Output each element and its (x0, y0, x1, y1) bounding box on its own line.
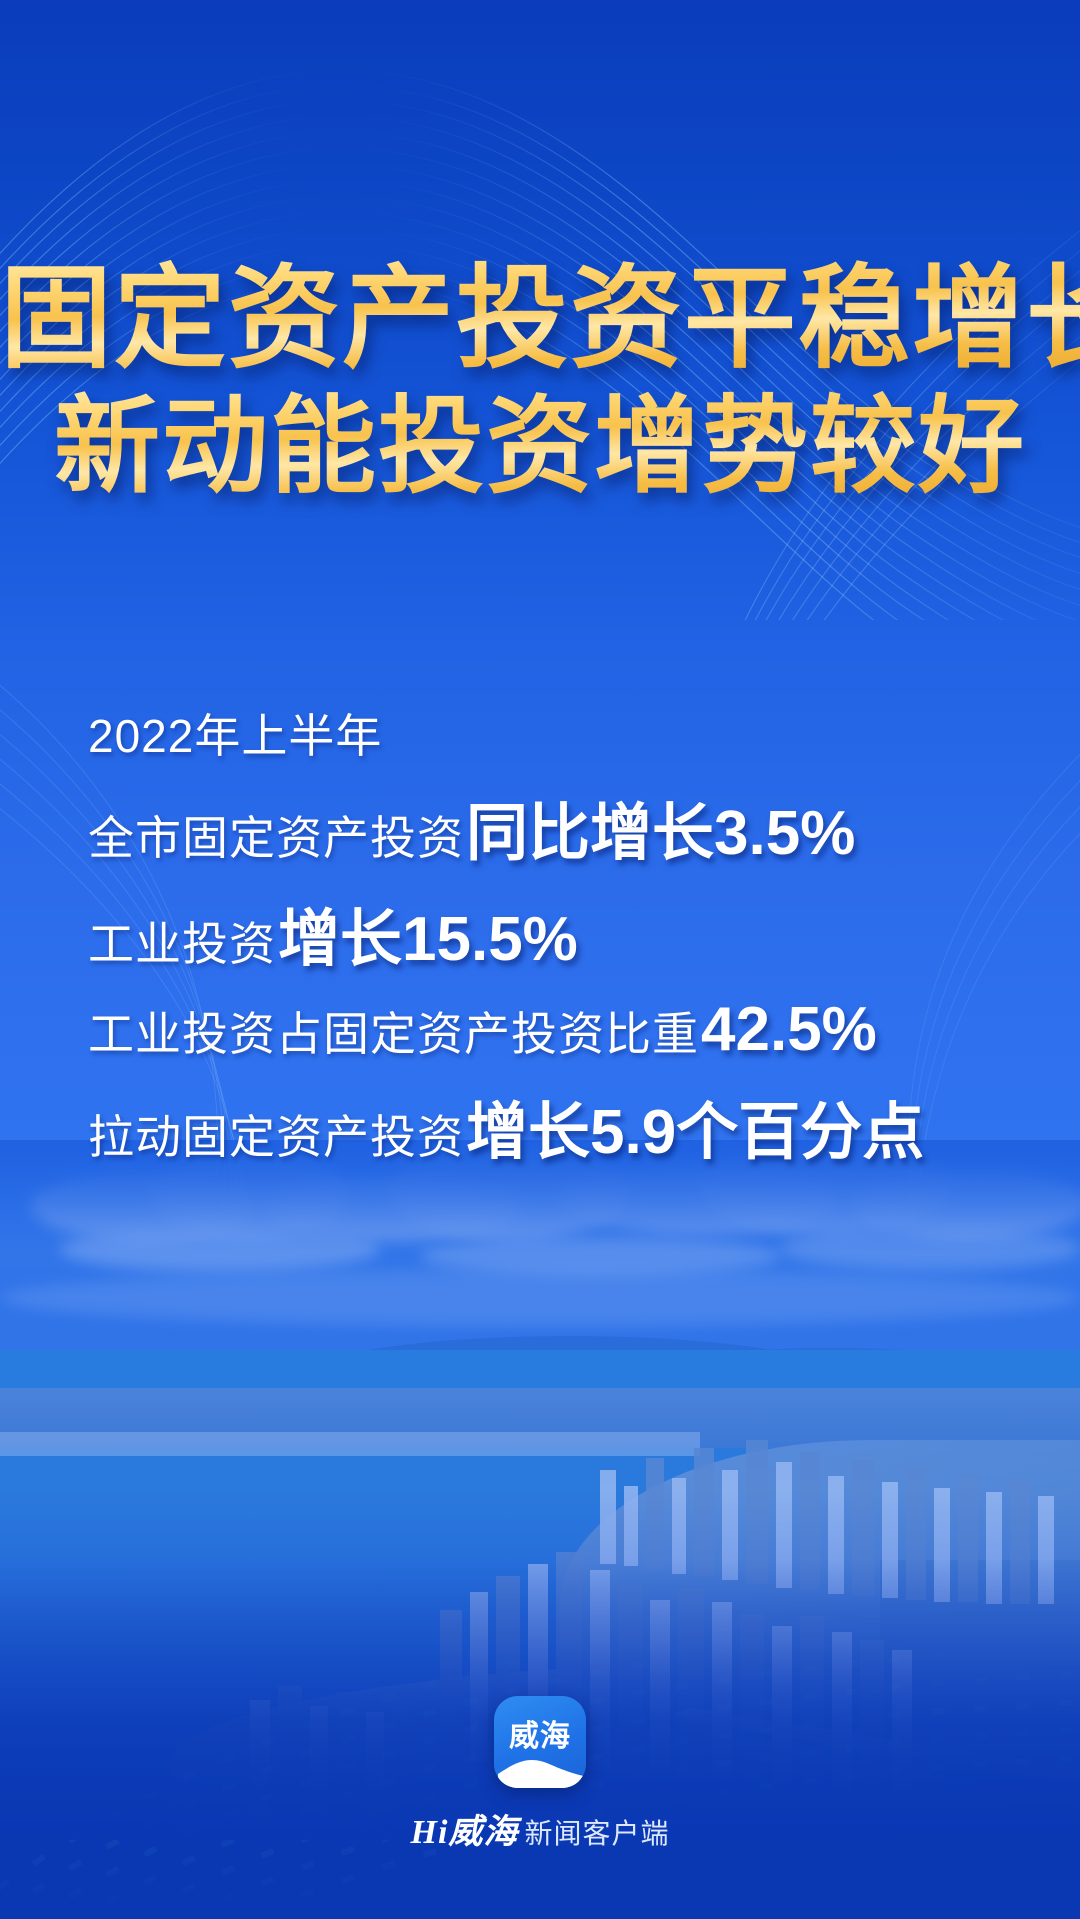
stat-value: 增长15.5% (278, 888, 578, 978)
stat-value: 同比增长3.5% (466, 782, 855, 872)
stat-label: 工业投资 (88, 908, 276, 974)
headline-line-2: 新动能投资增势较好 (0, 389, 1080, 508)
period-label: 2022年上半年 (88, 700, 382, 766)
poster-headline: 固定资产投资平稳增长 新动能投资增势较好 (0, 258, 1080, 508)
stat-label: 工业投资占固定资产投资比重 (88, 998, 699, 1064)
brand-name: Hi威海 (411, 1814, 519, 1851)
stat-row: 工业投资 增长15.5% (88, 888, 1018, 978)
brand-subtitle: 新闻客户端 (524, 1818, 669, 1849)
footer-brand-text: Hi威海新闻客户端 (0, 1804, 1080, 1853)
app-logo-icon: 威海 (494, 1696, 586, 1788)
statistics-block: 2022年上半年 全市固定资产投资 同比增长3.5% 工业投资 增长15.5% … (88, 700, 1018, 1171)
stat-value: 增长5.9个百分点 (466, 1081, 924, 1171)
headline-line-1: 固定资产投资平稳增长 (0, 258, 1080, 383)
period-row: 2022年上半年 (88, 700, 1018, 766)
stat-row: 全市固定资产投资 同比增长3.5% (88, 782, 1018, 872)
stat-label: 全市固定资产投资 (88, 802, 464, 868)
wave-hill-icon (494, 1748, 586, 1788)
stat-value: 42.5% (701, 994, 877, 1065)
stat-row: 工业投资占固定资产投资比重 42.5% (88, 994, 1018, 1065)
stat-row: 拉动固定资产投资 增长5.9个百分点 (88, 1081, 1018, 1171)
infographic-poster: 固定资产投资平稳增长 新动能投资增势较好 2022年上半年 全市固定资产投资 同… (0, 0, 1080, 1919)
footer-branding: 威海 Hi威海新闻客户端 (0, 1696, 1080, 1853)
stat-label: 拉动固定资产投资 (88, 1101, 464, 1167)
